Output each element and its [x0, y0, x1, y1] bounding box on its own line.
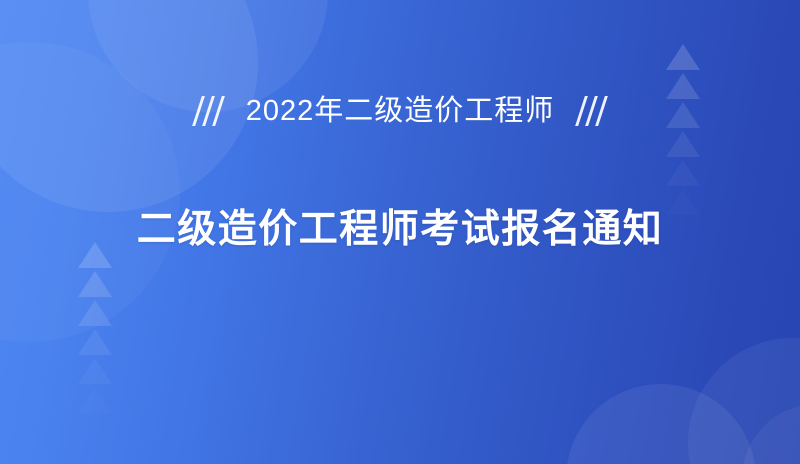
banner-title: 二级造价工程师考试报名通知	[137, 210, 664, 249]
banner-subtitle-row: 2022年二级造价工程师	[197, 96, 604, 126]
promo-banner: 2022年二级造价工程师 二级造价工程师考试报名通知	[0, 0, 800, 464]
slash-decoration-left-icon	[197, 96, 220, 126]
banner-content: 2022年二级造价工程师 二级造价工程师考试报名通知	[0, 0, 800, 464]
banner-subtitle: 2022年二级造价工程师	[246, 97, 555, 126]
slash-decoration-right-icon	[580, 96, 603, 126]
